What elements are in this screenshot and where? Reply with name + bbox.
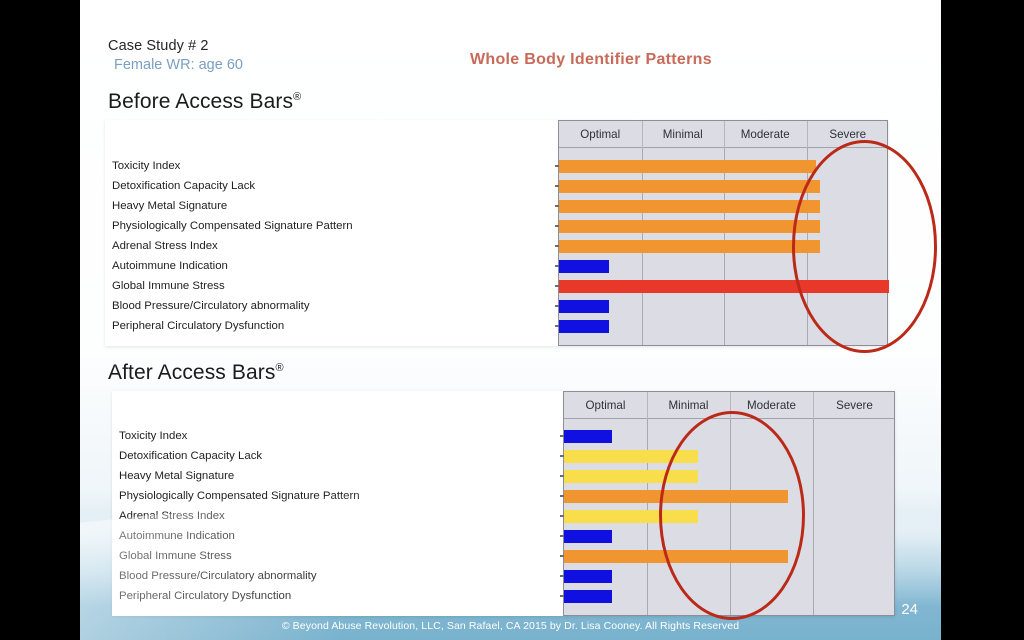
column-header-optimal: Optimal	[559, 121, 642, 148]
chart-row-label: Blood Pressure/Circulatory abnormality	[112, 300, 310, 312]
axis-tick	[555, 305, 559, 307]
axis-tick	[555, 185, 559, 187]
chart-row-label: Adrenal Stress Index	[119, 510, 225, 522]
column-header-moderate: Moderate	[724, 121, 807, 148]
chart-row-label: Blood Pressure/Circulatory abnormality	[119, 570, 317, 582]
section-title-before: Before Access Bars®	[108, 90, 301, 114]
column-header-separator	[642, 121, 643, 148]
chart-bar	[559, 180, 820, 193]
slide-page-number: 24	[901, 601, 918, 618]
column-header-moderate: Moderate	[730, 392, 813, 419]
chart-bar	[564, 530, 612, 543]
letterbox-left	[0, 0, 80, 640]
section-title-after-text: After Access Bars	[108, 361, 275, 384]
column-header-minimal: Minimal	[647, 392, 730, 419]
chart-bar	[559, 160, 816, 173]
chart-row-label: Detoxification Capacity Lack	[119, 450, 262, 462]
section-title-before-text: Before Access Bars	[108, 90, 293, 113]
column-header-separator	[813, 392, 814, 419]
chart-row-label: Physiologically Compensated Signature Pa…	[119, 490, 360, 502]
chart-gridline	[730, 419, 731, 615]
chart-row-label: Autoimmune Indication	[112, 260, 228, 272]
column-header-separator	[647, 392, 648, 419]
chart-row-label: Toxicity Index	[112, 160, 180, 172]
column-header-separator	[724, 121, 725, 148]
presentation-slide: Case Study # 2 Female WR: age 60 Whole B…	[80, 0, 941, 640]
column-header-separator	[807, 121, 808, 148]
axis-tick	[560, 515, 564, 517]
chart-column-header-row: OptimalMinimalModerateSevere	[559, 121, 887, 148]
chart-bar	[564, 490, 788, 503]
chart-gridline	[813, 419, 814, 615]
registered-mark-icon: ®	[275, 362, 283, 374]
chart-before-row-labels: Toxicity IndexDetoxification Capacity La…	[105, 120, 477, 346]
chart-after-row-labels: Toxicity IndexDetoxification Capacity La…	[112, 391, 484, 616]
axis-tick	[555, 325, 559, 327]
chart-row-label: Detoxification Capacity Lack	[112, 180, 255, 192]
chart-bar	[559, 260, 609, 273]
chart-row-label: Adrenal Stress Index	[112, 240, 218, 252]
axis-tick	[555, 165, 559, 167]
chart-row-label: Peripheral Circulatory Dysfunction	[119, 590, 291, 602]
column-header-severe: Severe	[813, 392, 896, 419]
chart-bar	[564, 590, 612, 603]
axis-tick	[555, 285, 559, 287]
chart-bar	[559, 300, 609, 313]
chart-panel-after: Toxicity IndexDetoxification Capacity La…	[112, 391, 895, 616]
chart-panel-before: Toxicity IndexDetoxification Capacity La…	[105, 120, 888, 346]
axis-tick	[555, 245, 559, 247]
chart-after-plot-area: OptimalMinimalModerateSevere	[563, 391, 895, 616]
chart-row-label: Autoimmune Indication	[119, 530, 235, 542]
axis-tick	[555, 265, 559, 267]
chart-bar	[564, 470, 698, 483]
chart-row-label: Heavy Metal Signature	[119, 470, 234, 482]
case-study-label: Case Study # 2	[108, 38, 209, 54]
axis-tick	[560, 495, 564, 497]
chart-bar	[559, 320, 609, 333]
letterbox-right	[941, 0, 1024, 640]
chart-bar	[564, 430, 612, 443]
column-header-optimal: Optimal	[564, 392, 647, 419]
chart-row-label: Toxicity Index	[119, 430, 187, 442]
chart-bar	[559, 280, 889, 293]
column-header-minimal: Minimal	[642, 121, 725, 148]
chart-row-label: Peripheral Circulatory Dysfunction	[112, 320, 284, 332]
axis-tick	[560, 435, 564, 437]
axis-tick	[560, 455, 564, 457]
axis-tick	[560, 595, 564, 597]
registered-mark-icon: ®	[293, 91, 301, 103]
axis-tick	[555, 225, 559, 227]
deck-title: Whole Body Identifier Patterns	[470, 51, 712, 69]
chart-bar	[559, 220, 820, 233]
chart-row-label: Physiologically Compensated Signature Pa…	[112, 220, 353, 232]
slide-footer-copyright: © Beyond Abuse Revolution, LLC, San Rafa…	[80, 620, 941, 632]
axis-tick	[560, 575, 564, 577]
axis-tick	[560, 535, 564, 537]
axis-tick	[560, 555, 564, 557]
chart-row-label: Global Immune Stress	[112, 280, 225, 292]
axis-tick	[555, 205, 559, 207]
column-header-separator	[730, 392, 731, 419]
column-header-severe: Severe	[807, 121, 890, 148]
chart-before-plot-area: OptimalMinimalModerateSevere	[558, 120, 888, 346]
chart-bar	[564, 570, 612, 583]
chart-column-header-row: OptimalMinimalModerateSevere	[564, 392, 894, 419]
case-subject-label: Female WR: age 60	[114, 57, 243, 73]
section-title-after: After Access Bars®	[108, 361, 284, 385]
chart-bar	[559, 240, 820, 253]
chart-bar	[564, 510, 698, 523]
chart-bar	[559, 200, 820, 213]
chart-row-label: Global Immune Stress	[119, 550, 232, 562]
chart-row-label: Heavy Metal Signature	[112, 200, 227, 212]
axis-tick	[560, 475, 564, 477]
slide-stage: Case Study # 2 Female WR: age 60 Whole B…	[0, 0, 1024, 640]
chart-bar	[564, 450, 698, 463]
chart-bar	[564, 550, 788, 563]
